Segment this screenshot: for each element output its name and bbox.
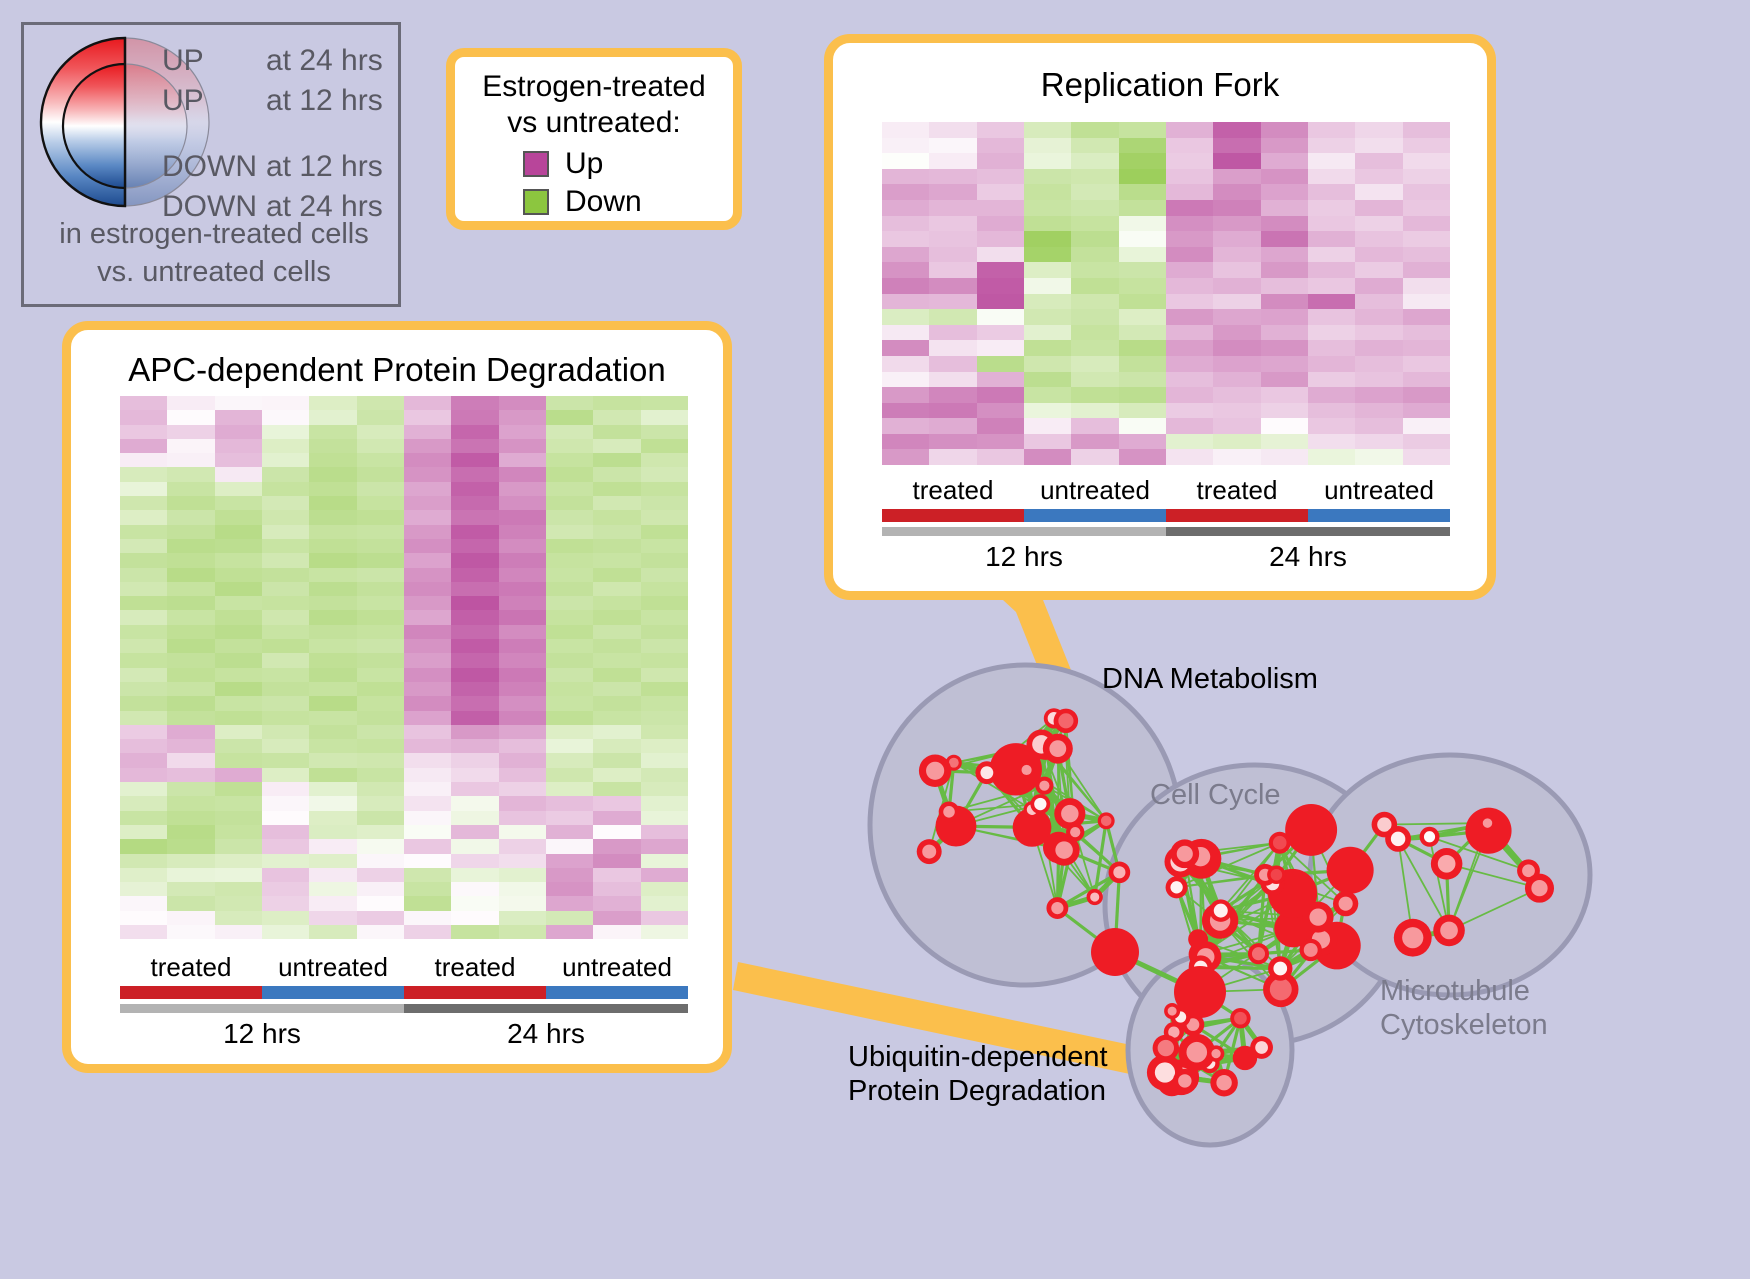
heatmap-cell: [593, 811, 640, 825]
heatmap-cell: [929, 403, 976, 419]
network-node[interactable]: [1109, 862, 1131, 884]
network-node[interactable]: [1420, 827, 1440, 847]
heatmap-cell: [641, 882, 688, 896]
heatmap-cell: [499, 696, 546, 710]
heatmap-cell: [262, 911, 309, 925]
network-node[interactable]: [1303, 902, 1334, 933]
sample-group-label: untreated: [1308, 473, 1450, 507]
heatmap-cell: [309, 467, 356, 481]
network-node[interactable]: [1233, 1046, 1257, 1070]
heatmap-cell: [215, 753, 262, 767]
heatmap-cell: [593, 568, 640, 582]
heatmap-cell: [593, 425, 640, 439]
heatmap-cell: [357, 839, 404, 853]
heatmap-cell: [499, 525, 546, 539]
network-node[interactable]: [1153, 1035, 1179, 1061]
network-node[interactable]: [1267, 865, 1286, 884]
heatmap-cell: [404, 510, 451, 524]
node-inner-fill: [1531, 880, 1547, 896]
network-node[interactable]: [1054, 798, 1085, 829]
heatmap-cell: [451, 725, 498, 739]
heatmap-cell: [167, 796, 214, 810]
network-node[interactable]: [1210, 899, 1233, 922]
heatmap-cell: [1119, 340, 1166, 356]
network-node[interactable]: [1166, 876, 1188, 898]
heatmap-cell: [929, 325, 976, 341]
heatmap-cell: [1119, 387, 1166, 403]
heatmap-cell: [929, 309, 976, 325]
heatmap-cell: [882, 169, 929, 185]
heatmap-cell: [929, 418, 976, 434]
heatmap-cell: [309, 439, 356, 453]
heatmap-cell: [1308, 231, 1355, 247]
heatmap-cell: [262, 653, 309, 667]
key-time-label: at 12 hrs: [266, 152, 383, 182]
heatmap-cell: [404, 768, 451, 782]
heatmap-cell: [1308, 403, 1355, 419]
network-node[interactable]: [1268, 956, 1292, 980]
heatmap-cell: [977, 262, 1024, 278]
heatmap-cell: [1071, 372, 1118, 388]
heatmap-cell: [593, 396, 640, 410]
heatmap-cell: [1071, 122, 1118, 138]
heatmap-cell: [1119, 122, 1166, 138]
heatmap-cell: [404, 425, 451, 439]
heatmap-cell: [1261, 449, 1308, 465]
legend-item-down: Down: [523, 183, 733, 221]
heatmap-cell: [1024, 309, 1071, 325]
heatmap-cell: [1024, 387, 1071, 403]
heatmap-cell: [309, 410, 356, 424]
heatmap-cell: [1213, 325, 1260, 341]
heatmap-cell: [1308, 356, 1355, 372]
heatmap-cell: [262, 896, 309, 910]
heatmap-cell: [929, 278, 976, 294]
heatmap-cell: [1213, 122, 1260, 138]
network-node[interactable]: [1054, 709, 1078, 733]
heatmap-cell: [309, 868, 356, 882]
heatmap-cell: [309, 539, 356, 553]
heatmap-cell: [1071, 200, 1118, 216]
heatmap-cell: [929, 356, 976, 372]
node-inner-fill: [1113, 866, 1125, 878]
heatmap-cell: [120, 525, 167, 539]
heatmap-cell: [262, 610, 309, 624]
heatmap-cell: [1403, 247, 1450, 263]
heatmap-cell: [1403, 153, 1450, 169]
heatmap-cell: [451, 410, 498, 424]
heatmap-cell: [1024, 184, 1071, 200]
node-inner-fill: [922, 845, 936, 859]
heatmap-cell: [977, 356, 1024, 372]
heatmap-cell: [309, 425, 356, 439]
sample-group-bars: [120, 986, 688, 999]
heatmap-cell: [641, 610, 688, 624]
heatmap-cell: [882, 200, 929, 216]
up-swatch-icon: [523, 151, 549, 177]
network-node[interactable]: [1046, 897, 1068, 919]
heatmap-cell: [546, 496, 593, 510]
network-node[interactable]: [1431, 848, 1463, 880]
heatmap-cell: [499, 568, 546, 582]
heatmap-cell: [546, 711, 593, 725]
heatmap-cell: [215, 482, 262, 496]
heatmap-cell: [1166, 294, 1213, 310]
network-node[interactable]: [1164, 1003, 1180, 1019]
heatmap-cell: [262, 782, 309, 796]
heatmap-cell: [1403, 169, 1450, 185]
heatmap-cell: [262, 425, 309, 439]
heatmap-cell: [120, 453, 167, 467]
heatmap-cell: [120, 711, 167, 725]
heatmap-cell: [593, 868, 640, 882]
network-svg: [790, 600, 1750, 1279]
color-key-row: UP at 24 hrs: [162, 41, 398, 81]
network-node[interactable]: [1043, 734, 1073, 764]
heatmap-cell: [1119, 449, 1166, 465]
heatmap-cell: [499, 610, 546, 624]
network-node[interactable]: [1173, 1069, 1197, 1093]
heatmap-cell: [593, 596, 640, 610]
heatmap-cell: [262, 668, 309, 682]
heatmap-cell: [404, 610, 451, 624]
heatmap-cell: [215, 439, 262, 453]
heatmap-cell: [451, 854, 498, 868]
heatmap-cell: [499, 739, 546, 753]
heatmap-cell: [404, 625, 451, 639]
heatmap-cell: [120, 811, 167, 825]
heatmap-cell: [309, 925, 356, 939]
heatmap-cell: [262, 582, 309, 596]
heatmap-cell: [357, 525, 404, 539]
heatmap-cell: [1308, 247, 1355, 263]
heatmap-cell: [641, 639, 688, 653]
network-node[interactable]: [1087, 889, 1103, 905]
heatmap-cell: [167, 525, 214, 539]
heatmap-cell: [357, 868, 404, 882]
heatmap-cell: [404, 725, 451, 739]
heatmap-cell: [1119, 247, 1166, 263]
heatmap-cell: [499, 482, 546, 496]
network-node[interactable]: [1210, 1069, 1237, 1096]
heatmap-cell: [882, 418, 929, 434]
heatmap-cell: [929, 169, 976, 185]
heatmap-cell: [309, 796, 356, 810]
heatmap-cell: [120, 768, 167, 782]
network-node[interactable]: [1394, 919, 1432, 957]
heatmap-cell: [309, 625, 356, 639]
heatmap-cell: [262, 410, 309, 424]
heatmap-cell: [404, 882, 451, 896]
heatmap-cell: [167, 882, 214, 896]
heatmap-cell: [309, 825, 356, 839]
heatmap-cell: [451, 911, 498, 925]
heatmap-cell: [499, 439, 546, 453]
heatmap-cell: [357, 768, 404, 782]
color-key-caption-line2: vs. untreated cells: [24, 253, 404, 291]
heatmap-cell: [499, 925, 546, 939]
network-node[interactable]: [939, 801, 960, 822]
heatmap-cell: [215, 925, 262, 939]
heatmap-cell: [593, 825, 640, 839]
heatmap-cell: [1213, 138, 1260, 154]
network-node[interactable]: [1327, 847, 1374, 894]
heatmap-cell: [1119, 184, 1166, 200]
heatmap-cell: [404, 839, 451, 853]
heatmap-cell: [499, 625, 546, 639]
network-node[interactable]: [1248, 943, 1269, 964]
heatmap-cell: [357, 653, 404, 667]
network-node[interactable]: [1479, 815, 1496, 832]
heatmap-cell: [120, 467, 167, 481]
heatmap-cell: [451, 467, 498, 481]
heatmap-cell: [1308, 169, 1355, 185]
heatmap-cell: [262, 510, 309, 524]
heatmap-cell: [1119, 169, 1166, 185]
timepoint-labels: 12 hrs 24 hrs: [120, 1015, 688, 1053]
heatmap-cell: [546, 868, 593, 882]
heatmap-cell: [593, 711, 640, 725]
node-inner-fill: [1216, 1075, 1231, 1090]
network-node[interactable]: [1018, 761, 1036, 779]
node-inner-fill: [943, 806, 955, 818]
network-node[interactable]: [1230, 1008, 1250, 1028]
heatmap-cell: [1119, 372, 1166, 388]
heatmap-cell: [882, 434, 929, 450]
heatmap-cell: [262, 682, 309, 696]
heatmap-cell: [1403, 122, 1450, 138]
heatmap-cell: [1308, 418, 1355, 434]
heatmap-cell: [1166, 449, 1213, 465]
network-node[interactable]: [1188, 929, 1208, 949]
heatmap-cell: [309, 653, 356, 667]
heatmap-cell: [499, 682, 546, 696]
heatmap-cell: [262, 439, 309, 453]
network-node[interactable]: [1091, 928, 1139, 976]
heatmap-cell: [882, 449, 929, 465]
heatmap-cell: [404, 467, 451, 481]
heatmap-cell: [1355, 294, 1402, 310]
heatmap-cell: [546, 854, 593, 868]
heatmap-cell: [546, 882, 593, 896]
heatmap-cell: [451, 568, 498, 582]
heatmap-cell: [262, 854, 309, 868]
heatmap-cell: [404, 568, 451, 582]
heatmap-cell: [1261, 138, 1308, 154]
heatmap-cell: [977, 418, 1024, 434]
network-node[interactable]: [1285, 804, 1337, 856]
heatmap-cell: [1071, 434, 1118, 450]
heatmap-cell: [357, 510, 404, 524]
heatmap-cell: [1024, 262, 1071, 278]
network-node[interactable]: [1030, 794, 1050, 814]
heatmap-cell: [167, 896, 214, 910]
network-node[interactable]: [917, 839, 942, 864]
heatmap-cell: [357, 696, 404, 710]
heatmap-cell: [1024, 138, 1071, 154]
node-inner-fill: [980, 766, 993, 779]
heatmap-cell: [546, 696, 593, 710]
node-inner-fill: [1339, 897, 1353, 911]
heatmap-cell: [1355, 434, 1402, 450]
heatmap-cell: [546, 811, 593, 825]
heatmap-cell: [1024, 294, 1071, 310]
heatmap-cell: [262, 467, 309, 481]
heatmap-cell: [1119, 325, 1166, 341]
network-node[interactable]: [1098, 812, 1115, 829]
heatmap-cell: [1261, 153, 1308, 169]
heatmap-cell: [929, 200, 976, 216]
heatmap-cell: [1403, 325, 1450, 341]
heatmap-cell: [546, 453, 593, 467]
heatmap-cell: [977, 372, 1024, 388]
timepoint-label: 12 hrs: [120, 1015, 404, 1053]
heatmap-cell: [120, 854, 167, 868]
heatmap-cell: [215, 682, 262, 696]
heatmap-cell: [262, 882, 309, 896]
node-inner-fill: [1177, 846, 1193, 862]
time-12hrs-bar-icon: [120, 1004, 404, 1013]
heatmap-cell: [499, 396, 546, 410]
heatmap-cell: [215, 553, 262, 567]
heatmap-cell: [357, 396, 404, 410]
heatmap-cell: [1308, 278, 1355, 294]
heatmap-cell: [593, 796, 640, 810]
heatmap-cell: [1403, 184, 1450, 200]
heatmap-cell: [167, 625, 214, 639]
heatmap-cell: [1166, 325, 1213, 341]
network-node[interactable]: [1385, 826, 1411, 852]
heatmap-cell: [215, 882, 262, 896]
legend-title-line1: Estrogen-treated: [455, 69, 733, 105]
heatmap-cell: [641, 854, 688, 868]
heatmap-cell: [1213, 294, 1260, 310]
network-node[interactable]: [1170, 839, 1199, 868]
panel-apc-degradation: APC-dependent Protein Degradation treate…: [62, 321, 732, 1073]
node-inner-fill: [1214, 904, 1228, 918]
heatmap-cell: [309, 553, 356, 567]
heatmap-cell: [1024, 153, 1071, 169]
heatmap-cell: [1355, 278, 1402, 294]
heatmap-cell: [546, 739, 593, 753]
heatmap-cell: [1071, 278, 1118, 294]
heatmap-cell: [499, 896, 546, 910]
heatmap-cell: [120, 739, 167, 753]
heatmap-cell: [499, 496, 546, 510]
treated-bar-icon: [404, 986, 546, 999]
heatmap-cell: [977, 169, 1024, 185]
network-node[interactable]: [1333, 891, 1358, 916]
heatmap-cell: [357, 911, 404, 925]
heatmap-cell: [451, 839, 498, 853]
heatmap-cell: [120, 668, 167, 682]
heatmap-cell: [882, 294, 929, 310]
heatmap-cell: [120, 439, 167, 453]
heatmap-cell: [593, 768, 640, 782]
heatmap-cell: [309, 482, 356, 496]
heatmap-cell: [357, 610, 404, 624]
heatmap-cell: [641, 568, 688, 582]
heatmap-cell: [1213, 262, 1260, 278]
heatmap-cell: [167, 782, 214, 796]
heatmap-cell: [929, 122, 976, 138]
heatmap-cell: [1355, 138, 1402, 154]
network-node[interactable]: [1269, 832, 1291, 854]
network-node[interactable]: [919, 755, 951, 787]
heatmap-cell: [357, 925, 404, 939]
heatmap-cell: [593, 925, 640, 939]
heatmap-cell: [404, 668, 451, 682]
heatmap-cell: [641, 467, 688, 481]
heatmap-cell: [641, 396, 688, 410]
sample-group-label: treated: [404, 950, 546, 984]
node-inner-fill: [1155, 1062, 1175, 1082]
heatmap-cell: [641, 825, 688, 839]
node-inner-fill: [1309, 908, 1326, 925]
network-node[interactable]: [1208, 1045, 1225, 1062]
heatmap-cell: [499, 868, 546, 882]
node-inner-fill: [1178, 1074, 1191, 1087]
heatmap-cell: [451, 711, 498, 725]
heatmap-cell: [262, 596, 309, 610]
time-24hrs-bar-icon: [404, 1004, 688, 1013]
heatmap-cell: [357, 568, 404, 582]
heatmap-cell: [309, 839, 356, 853]
heatmap-cell: [404, 596, 451, 610]
heatmap-cell: [404, 739, 451, 753]
heatmap-cell: [499, 839, 546, 853]
heatmap-cell: [546, 510, 593, 524]
heatmap-cell: [451, 482, 498, 496]
heatmap-cell: [215, 510, 262, 524]
color-key-caption-line1: in estrogen-treated cells: [24, 215, 404, 253]
network-node[interactable]: [1066, 823, 1084, 841]
network-node[interactable]: [1525, 874, 1554, 903]
network-node[interactable]: [975, 761, 998, 784]
network-node[interactable]: [1035, 777, 1053, 795]
heatmap-cell: [546, 653, 593, 667]
heatmap-cell: [1355, 387, 1402, 403]
time-12hrs-bar-icon: [882, 527, 1166, 536]
sample-group-bars: [882, 509, 1450, 522]
heatmap-cell: [167, 725, 214, 739]
heatmap-cell: [977, 434, 1024, 450]
heatmap-cell: [882, 325, 929, 341]
legend-title-line2: vs untreated:: [455, 105, 733, 141]
network-node[interactable]: [1433, 915, 1465, 947]
heatmap-cell: [882, 387, 929, 403]
heatmap-cell: [1071, 169, 1118, 185]
heatmap-cell: [357, 854, 404, 868]
heatmap-cell: [499, 639, 546, 653]
heatmap-cell: [215, 410, 262, 424]
heatmap-cell: [1261, 278, 1308, 294]
heatmap-cell: [1403, 262, 1450, 278]
heatmap-cell: [120, 568, 167, 582]
heatmap-cell: [309, 882, 356, 896]
heatmap-cell: [167, 539, 214, 553]
heatmap-cell: [404, 753, 451, 767]
heatmap-cell: [120, 796, 167, 810]
heatmap-cell: [120, 725, 167, 739]
heatmap-cell: [1024, 418, 1071, 434]
network-node[interactable]: [1174, 966, 1226, 1018]
heatmap-cell: [357, 725, 404, 739]
heatmap-cell: [309, 510, 356, 524]
network-node[interactable]: [1299, 939, 1321, 961]
heatmap-cell: [451, 453, 498, 467]
heatmap-cell: [167, 553, 214, 567]
